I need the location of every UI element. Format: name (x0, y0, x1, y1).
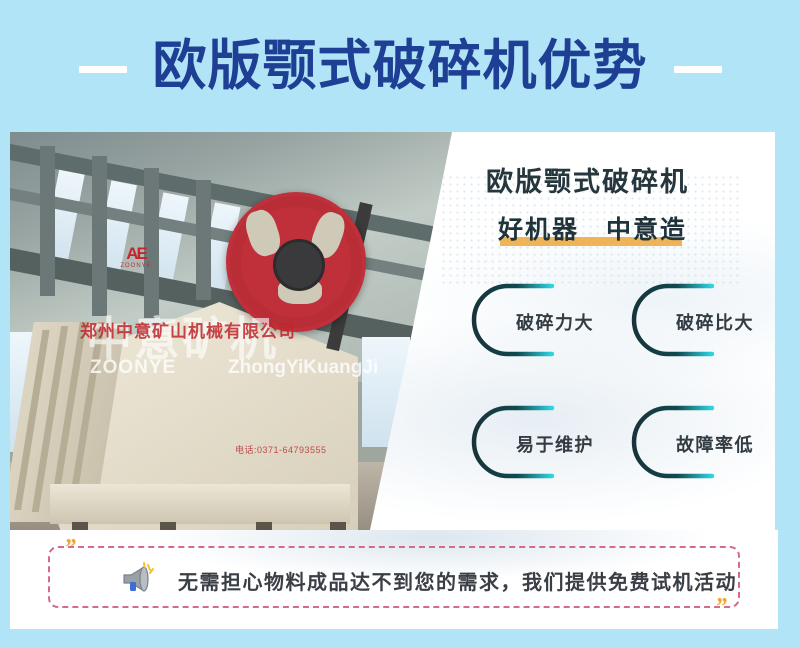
feature-label: 故障率低 (676, 431, 754, 457)
brand-logo-text: ZOONYE (120, 263, 151, 269)
flywheel (226, 192, 366, 332)
crusher-leg (72, 522, 88, 530)
crusher-leg (160, 522, 176, 530)
feature-label: 易于维护 (516, 431, 594, 457)
steel-column (40, 146, 55, 296)
feature-item-2: 破碎比大 (628, 282, 778, 358)
feature-label: 破碎比大 (676, 309, 754, 335)
steel-column (92, 156, 107, 316)
quote-close-icon: ” (715, 595, 726, 619)
steel-column (196, 180, 211, 300)
crusher-leg (330, 522, 346, 530)
brand-logo: AE ZOONYE (103, 240, 169, 274)
panel-subtitle: 好机器 中意造 (498, 210, 687, 246)
crusher-base (50, 484, 350, 524)
feature-item-3: 易于维护 (468, 404, 628, 480)
megaphone-icon (120, 562, 160, 596)
page-title: 欧版颚式破碎机优势 (153, 39, 648, 93)
panel-subtitle-wrap: 好机器 中意造 (498, 210, 687, 246)
feature-item-4: 故障率低 (628, 404, 778, 480)
promo-banner[interactable]: ” ” 无需担心物料成品达不到您的需求，我们提供免费试机活动 (48, 546, 740, 608)
brand-logo-mark: AE (126, 245, 146, 262)
panel-title: 欧版颚式破碎机 (486, 160, 689, 199)
feature-item-1: 破碎力大 (468, 282, 628, 358)
feature-label: 破碎力大 (516, 309, 594, 335)
promo-page: 欧版颚式破碎机优势 (0, 0, 800, 648)
header-dash-right (674, 66, 722, 73)
promo-banner-zone: ” ” 无需担心物料成品达不到您的需求，我们提供免费试机活动 (10, 530, 778, 629)
header-dash-left (79, 66, 127, 73)
panel-right-edge (775, 132, 778, 530)
banner-text: 无需担心物料成品达不到您的需求，我们提供免费试机活动 (178, 566, 737, 595)
quote-open-icon: ” (64, 536, 75, 560)
page-header: 欧版颚式破碎机优势 (0, 0, 800, 132)
flywheel-hub (273, 239, 325, 291)
crusher-leg (256, 522, 272, 530)
